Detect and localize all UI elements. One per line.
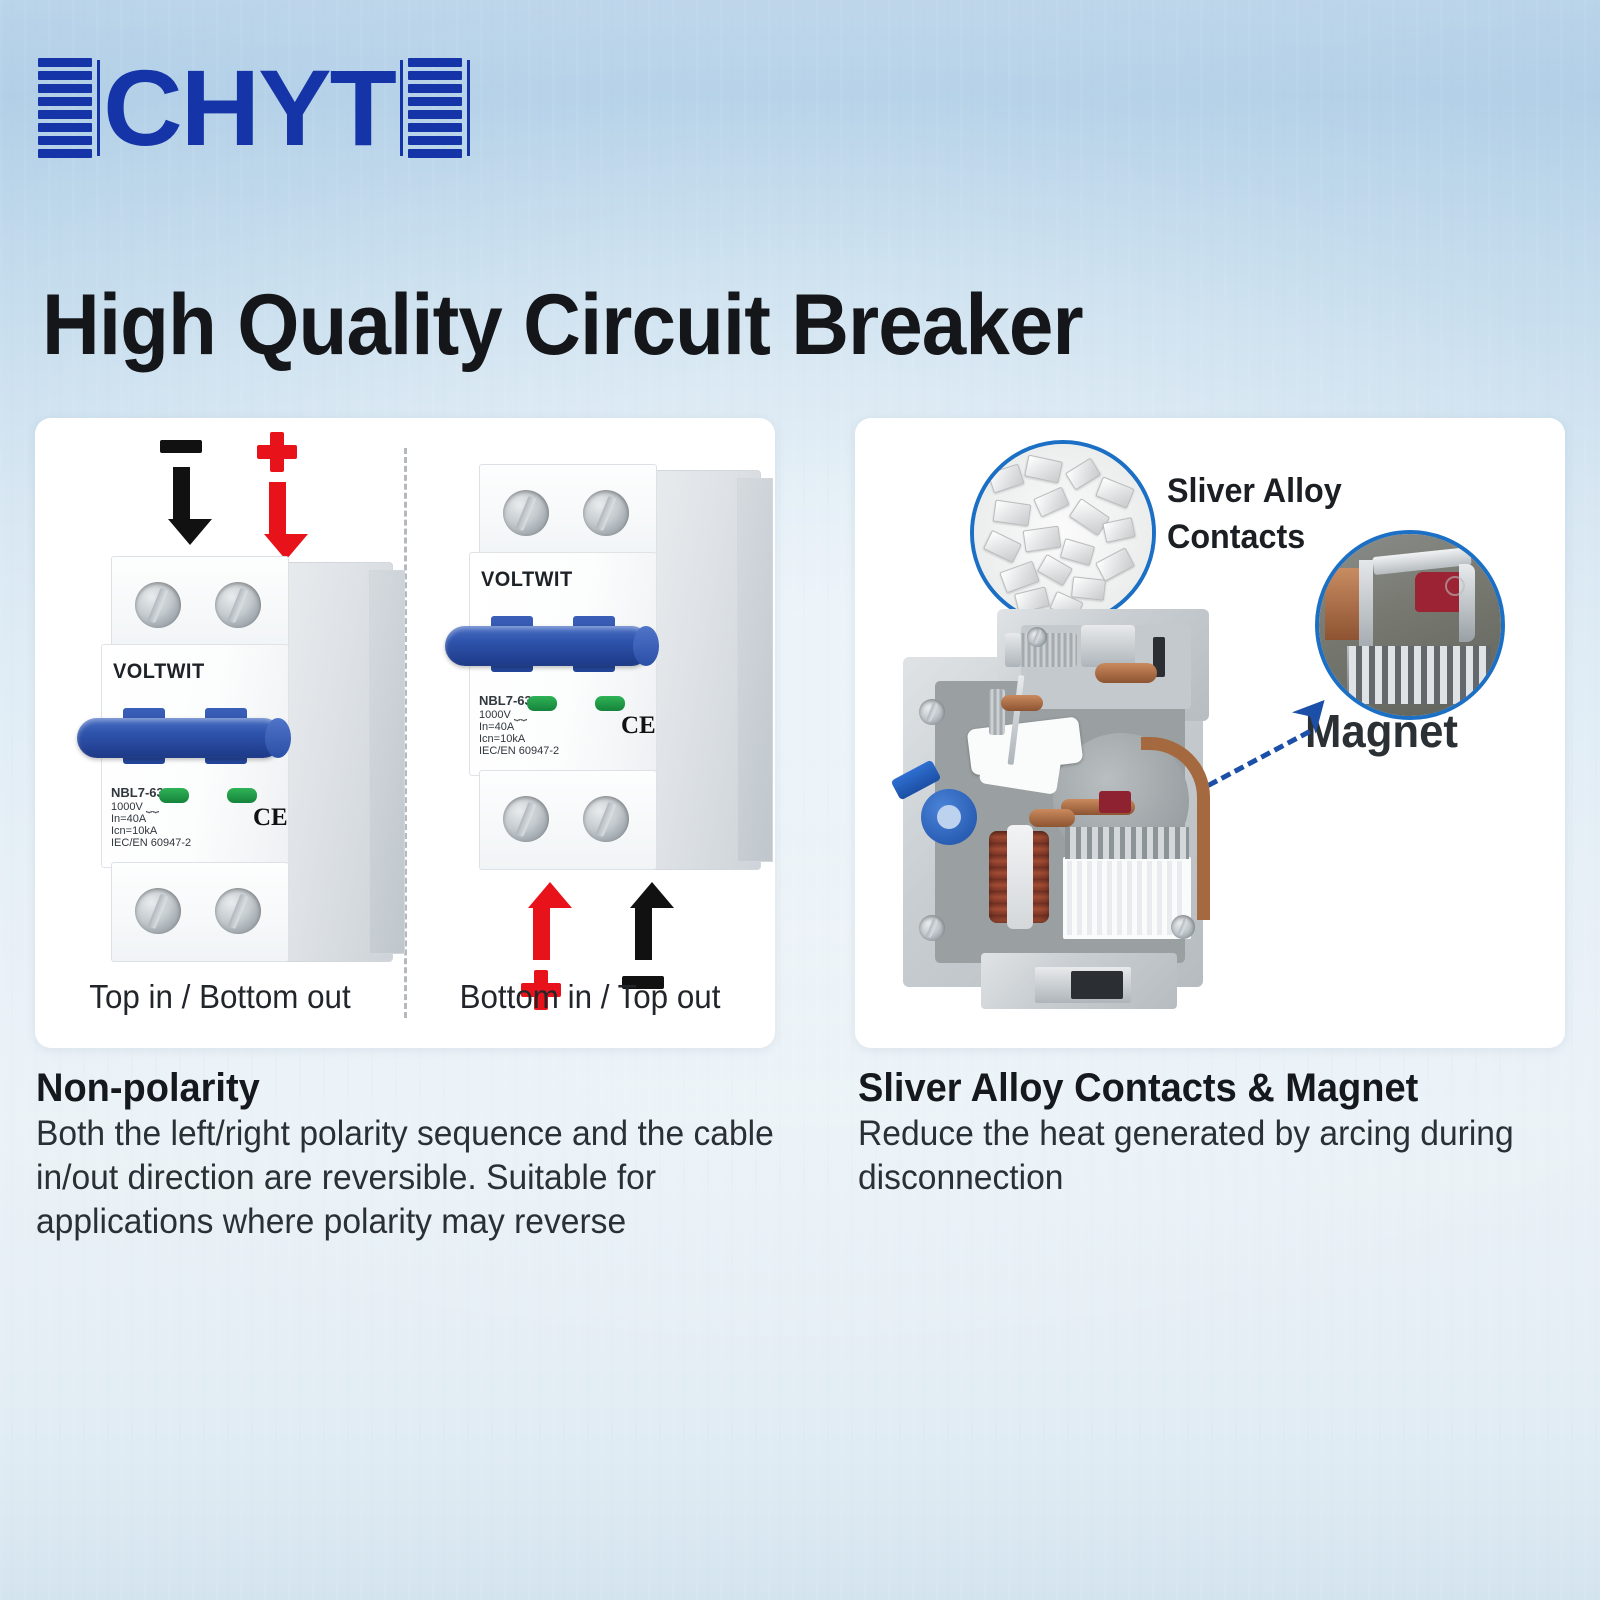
callout-label-contacts-line2: Contacts — [1167, 518, 1305, 556]
arrow-up-red-icon — [528, 882, 554, 960]
breaker-cutaway-illustration — [885, 603, 1285, 1023]
contacts-magnet-card: Sliver Alloy Contacts Magnet — [855, 418, 1565, 1048]
status-indicator-b2 — [595, 696, 625, 711]
breaker-spec-a-2: Icn=10kA — [111, 825, 191, 837]
breaker-unit-b: VOLTWIT NBL7-63 1000V ⏟⏟ In=40A Icn=10kA… — [463, 464, 773, 884]
infographic-canvas: CHYT High Quality Circuit Breaker — [0, 0, 1600, 1600]
section-heading-contacts-magnet: Sliver Alloy Contacts & Magnet — [858, 1066, 1418, 1111]
arrow-down-red-icon — [264, 482, 290, 560]
ce-mark-a: CE — [253, 804, 288, 832]
logo-rule-left — [97, 60, 100, 156]
magnet-photo — [1315, 530, 1505, 720]
logo-bars-right — [400, 56, 470, 160]
page-title: High Quality Circuit Breaker — [42, 282, 1083, 368]
logo-rule-right-a — [400, 60, 403, 156]
breaker-brand-label-a: VOLTWIT — [113, 660, 205, 684]
breaker-brand-label-b: VOLTWIT — [481, 568, 573, 592]
minus-sign-icon — [160, 440, 202, 453]
callout-label-contacts-line1: Sliver Alloy — [1167, 472, 1342, 510]
breaker-spec-b-3: IEC/EN 60947-2 — [479, 745, 559, 757]
polarity-mark-plus-top — [257, 432, 297, 560]
polarity-mark-minus-bottom — [622, 882, 664, 989]
status-indicator-b1 — [527, 696, 557, 711]
section-body-non-polarity: Both the left/right polarity sequence an… — [36, 1112, 794, 1243]
section-body-contacts-magnet: Reduce the heat generated by arcing duri… — [858, 1112, 1530, 1200]
logo-bar-group-left — [38, 58, 92, 158]
breaker-spec-b-2: Icn=10kA — [479, 733, 559, 745]
breaker-spec-a-1: In=40A — [111, 813, 191, 825]
breaker-spec-b-1: In=40A — [479, 721, 559, 733]
status-indicator-a1 — [159, 788, 189, 803]
arrow-up-black-icon — [630, 882, 656, 960]
section-heading-non-polarity: Non-polarity — [36, 1066, 260, 1111]
sliver-alloy-contacts-photo — [970, 440, 1156, 626]
breaker-spec-a-3: IEC/EN 60947-2 — [111, 837, 191, 849]
breaker-unit-a: VOLTWIT NBL7-63 1000V ⏟⏟ In=40A Icn=10kA… — [95, 556, 405, 976]
logo-bars-left — [38, 56, 100, 160]
non-polarity-card: VOLTWIT NBL7-63 1000V ⏟⏟ In=40A Icn=10kA… — [35, 418, 775, 1048]
logo-bar-group-right — [408, 58, 462, 158]
ce-mark-b: CE — [621, 712, 656, 740]
status-indicator-a2 — [227, 788, 257, 803]
polarity-mark-minus-top — [160, 440, 202, 545]
caption-bottom-in-top-out: Bottom in / Top out — [414, 978, 766, 1016]
caption-top-in-bottom-out: Top in / Bottom out — [44, 978, 396, 1016]
plus-sign-icon — [257, 432, 297, 472]
arrow-down-black-icon — [168, 467, 194, 545]
logo-rule-right-b — [467, 60, 470, 156]
logo-wordmark: CHYT — [103, 54, 395, 162]
brand-logo: CHYT — [38, 52, 470, 164]
